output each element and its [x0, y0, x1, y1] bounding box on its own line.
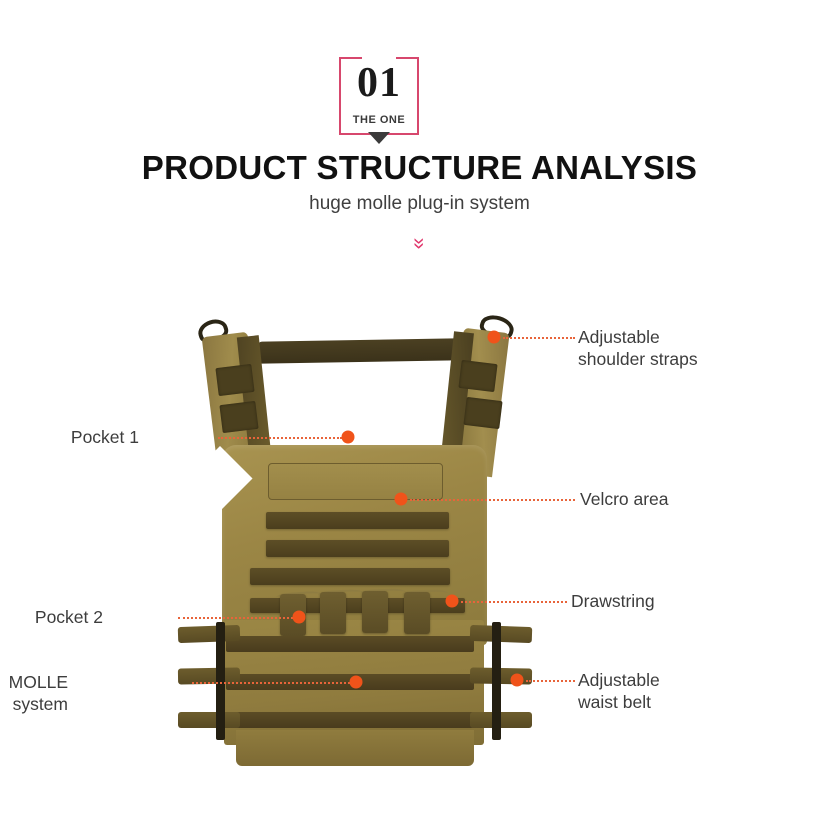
callout-leader-line: [218, 437, 342, 439]
side-wing-strap: [470, 625, 533, 643]
callout-dot-adjustable-waist-belt[interactable]: [511, 674, 524, 687]
callout-leader-line: [192, 682, 350, 684]
section-number-badge: 01 THE ONE: [339, 57, 419, 135]
callout-label-velcro-area: Velcro area: [580, 488, 669, 510]
badge-number: 01: [339, 62, 419, 104]
callout-label-adjustable-shoulder-straps: Adjustable shoulder straps: [578, 326, 698, 371]
shoulder-velcro-patch: [219, 401, 258, 433]
badge-caption: THE ONE: [339, 114, 419, 126]
callout-dot-adjustable-shoulder-straps[interactable]: [488, 331, 501, 344]
callout-leader-line: [178, 617, 293, 619]
callout-dot-pocket-2[interactable]: [293, 611, 306, 624]
callout-dot-molle-system[interactable]: [350, 676, 363, 689]
molle-webbing-row: [266, 540, 449, 557]
upper-pocket-flap: [268, 463, 443, 500]
molle-webbing-row: [266, 512, 449, 529]
shoulder-velcro-patch: [463, 397, 502, 429]
callout-label-drawstring: Drawstring: [571, 590, 655, 612]
belt-webbing-row: [226, 636, 474, 652]
callout-leader-line: [410, 499, 575, 501]
mag-pouch: [320, 592, 346, 634]
mag-pouch: [362, 591, 388, 633]
callout-dot-drawstring[interactable]: [446, 595, 459, 608]
mag-pouch: [404, 592, 430, 634]
product-image-plate-carrier: [180, 300, 560, 770]
side-wing-strap: [178, 712, 240, 728]
callout-leader-line: [503, 337, 575, 339]
shoulder-velcro-patch: [215, 364, 254, 396]
side-wing-strap: [470, 712, 532, 728]
molle-webbing-row: [250, 568, 450, 585]
badge-border-gap: [362, 54, 396, 59]
plate-bottom-skirt: [236, 730, 474, 766]
badge-triangle-icon: [368, 132, 390, 144]
callout-leader-line: [461, 601, 567, 603]
callout-label-molle-system: MOLLE system: [0, 671, 68, 716]
callout-label-pocket-1: Pocket 1: [0, 426, 139, 448]
plate-bevel-right: [501, 446, 566, 511]
callout-label-pocket-2: Pocket 2: [0, 606, 103, 628]
shoulder-velcro-patch: [458, 360, 497, 392]
side-post-left: [216, 622, 225, 740]
shoulder-yoke: [258, 338, 458, 363]
side-wing-strap: [178, 625, 241, 643]
infographic-page: 01 THE ONE PRODUCT STRUCTURE ANALYSIS hu…: [0, 0, 839, 816]
callout-label-adjustable-waist-belt: Adjustable waist belt: [578, 669, 660, 714]
callout-dot-pocket-1[interactable]: [342, 431, 355, 444]
callout-leader-line: [526, 680, 575, 682]
callout-dot-velcro-area[interactable]: [395, 493, 408, 506]
belt-webbing-row: [226, 712, 474, 728]
side-post-right: [492, 622, 501, 740]
